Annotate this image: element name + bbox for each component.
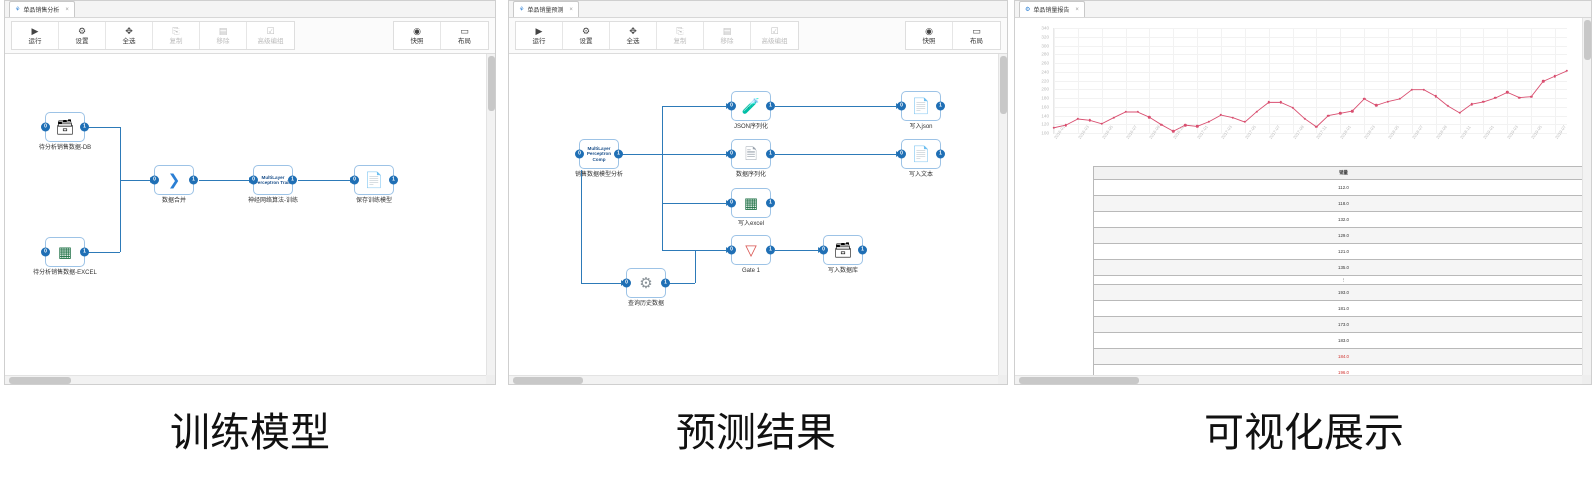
node-save-model[interactable]: 0 📄 1 保存训练模型 — [354, 165, 394, 206]
node-box[interactable]: 0 ▦ 1 — [45, 237, 85, 267]
node-write-json[interactable]: 0 📄 1 写入json — [901, 91, 941, 132]
run-button[interactable]: ▶ 运行 — [516, 22, 563, 49]
y-tick-label: 260 — [1027, 61, 1049, 66]
toolbar-spacer — [295, 21, 393, 50]
node-box[interactable]: 0 🗎 1 — [731, 139, 771, 169]
table-row[interactable]: 118.02016-02-01 — [1094, 196, 1592, 212]
series-line — [1054, 28, 1567, 133]
wire — [298, 180, 350, 181]
port-out[interactable]: 1 — [80, 123, 89, 132]
plot-area — [1053, 28, 1567, 134]
table-row[interactable]: 183.02018-12-01 — [1094, 333, 1592, 349]
excel-icon: ▦ — [58, 245, 72, 260]
port-out[interactable]: 1 — [189, 176, 198, 185]
node-box[interactable]: 0 📄 1 — [901, 139, 941, 169]
wire — [85, 252, 120, 253]
gear-icon: ⚙ — [78, 27, 86, 36]
node-inner-text: MultiLayer Perceptron Comp — [580, 146, 618, 162]
tab-predict[interactable]: ⚘ 单品销量预测 × — [513, 1, 579, 17]
wire — [662, 154, 726, 155]
visualization-body[interactable]: 100120140160180200220240260280300320340 … — [1015, 18, 1591, 384]
port-in[interactable]: 0 — [727, 150, 736, 159]
scrollbar-thumb[interactable] — [488, 56, 495, 111]
table-row[interactable]: 121.02016-05-01 — [1094, 244, 1592, 260]
copy-button[interactable]: ⎘ 复制 — [153, 22, 200, 49]
node-label: 数据序列化 — [714, 172, 788, 180]
node-label: 写入excel — [714, 221, 788, 229]
scrollbar-corner — [486, 375, 495, 384]
scrollbar-thumb[interactable] — [9, 377, 71, 384]
port-in[interactable]: 0 — [575, 150, 584, 159]
port-in[interactable]: 0 — [897, 102, 906, 111]
wire — [662, 203, 663, 250]
group-icon: ☑ — [770, 27, 778, 36]
port-out[interactable]: 1 — [858, 246, 867, 255]
node-data-merge[interactable]: 0 ❯ 1 数据合并 — [154, 165, 194, 206]
table-header-row: 销量 日期 — [1094, 167, 1592, 180]
advanced-group-button[interactable]: ☑ 高级编组 — [247, 22, 294, 49]
close-icon[interactable]: × — [65, 7, 69, 13]
table-body: 112.02016-01-01118.02016-02-01132.02016-… — [1094, 180, 1592, 385]
play-icon: ▶ — [536, 27, 543, 36]
tab-label: 单品销量预测 — [527, 5, 563, 14]
y-tick-label: 160 — [1027, 104, 1049, 109]
excel-icon: ▦ — [744, 196, 758, 211]
toolbar-predict: ▶ 运行 ⚙ 设置 ✥ 全选 ⎘ 复制 ▤ 移除 ☑ 高级编组 — [509, 18, 1007, 54]
node-db-source[interactable]: 0 🗃 1 待分析销售数据-DB — [45, 112, 85, 153]
cell-value: 184.0 — [1094, 349, 1592, 365]
wire — [120, 180, 150, 181]
port-out[interactable]: 1 — [288, 176, 297, 185]
tabbar-predict: ⚘ 单品销量预测 × — [509, 1, 1007, 18]
cell-value: 183.0 — [1094, 333, 1592, 349]
vertical-scrollbar[interactable] — [998, 54, 1007, 375]
run-button[interactable]: ▶ 运行 — [12, 22, 59, 49]
cell-value: 132.0 — [1094, 212, 1592, 228]
scrollbar-corner — [1582, 375, 1591, 384]
wire — [662, 203, 726, 204]
move-icon: ✥ — [629, 27, 637, 36]
cell-value: 135.0 — [1094, 260, 1592, 276]
y-tick-label: 280 — [1027, 52, 1049, 57]
wire — [199, 180, 249, 181]
wire — [775, 106, 896, 107]
panel-visualization: ⚙ 单品销量报告 × 10012014016018020022024026028… — [1014, 0, 1592, 385]
vertical-scrollbar[interactable] — [1582, 18, 1591, 375]
table-row[interactable]: ⋮⋮ — [1094, 276, 1592, 285]
table-head: 销量 日期 — [1094, 167, 1592, 180]
y-tick-label: 240 — [1027, 69, 1049, 74]
node-gate-1[interactable]: 0 ▽ 1 Gate 1 — [731, 235, 771, 276]
cell-value: 118.0 — [1094, 196, 1592, 212]
node-box[interactable]: 0 📄 1 — [901, 91, 941, 121]
node-label: Gate 1 — [714, 268, 788, 276]
column-header-value: 销量 — [1094, 167, 1592, 180]
gear-db-icon: ⚙ — [639, 276, 652, 291]
copy-button[interactable]: ⎘ 复制 — [657, 22, 704, 49]
merge-icon: ❯ — [168, 173, 181, 188]
canvas-inner-predict: 0 MultiLayer Perceptron Comp 1 销售数据模型分析 … — [509, 54, 1007, 384]
y-tick-label: 300 — [1027, 43, 1049, 48]
toolbar-group-left: ▶ 运行 ⚙ 设置 ✥ 全选 ⎘ 复制 ▤ 移除 ☑ 高级编组 — [515, 21, 799, 50]
layout-button[interactable]: ▭ 布局 — [953, 22, 1000, 49]
toolbar-group-right: ◉ 快照 ▭ 布局 — [905, 21, 1001, 50]
wire — [669, 283, 695, 284]
gate-icon: ▽ — [745, 243, 757, 258]
node-write-excel[interactable]: 0 ▦ 1 写入excel — [731, 188, 771, 229]
node-write-database[interactable]: 0 🗃 1 写入数据库 — [823, 235, 863, 276]
data-table: 销量 日期 112.02016-01-01118.02016-02-01132.… — [1093, 166, 1591, 384]
tab-label: 单品销量报告 — [1033, 5, 1069, 14]
wire — [775, 154, 896, 155]
node-box[interactable]: 0 MultiLayer Perceptron Comp 1 — [579, 139, 619, 169]
node-box[interactable]: 0 ▦ 1 — [731, 188, 771, 218]
node-label: JSON序列化 — [714, 124, 788, 132]
caption-predict-result: 预测结果 — [506, 400, 1006, 458]
port-in[interactable]: 0 — [249, 176, 258, 185]
wire — [662, 106, 663, 204]
camera-icon: ◉ — [925, 27, 933, 36]
wire — [619, 154, 662, 155]
toolbar-group-right: ◉ 快照 ▭ 布局 — [393, 21, 489, 50]
wire — [695, 250, 696, 283]
node-box[interactable]: 0 MultiLayer Perceptron Train 1 — [253, 165, 293, 195]
horizontal-scrollbar[interactable] — [1015, 375, 1582, 384]
node-label: 写入json — [884, 124, 958, 132]
table-row[interactable]: 193.02018-09-01 — [1094, 285, 1592, 301]
node-box[interactable]: 0 ⚙ 1 — [626, 268, 666, 298]
tabbar-visual: ⚙ 单品销量报告 × — [1015, 1, 1591, 18]
port-out[interactable]: 1 — [936, 102, 945, 111]
node-json-serialize[interactable]: 0 🧪 1 JSON序列化 — [731, 91, 771, 132]
screenshot-root: ⚘ 单品销售分析 × ▶ 运行 ⚙ 设置 ✥ 全选 ⎘ 复制 — [0, 0, 1596, 489]
y-tick-label: 120 — [1027, 122, 1049, 127]
scrollbar-corner — [998, 375, 1007, 384]
panel-train-model: ⚘ 单品销售分析 × ▶ 运行 ⚙ 设置 ✥ 全选 ⎘ 复制 — [4, 0, 496, 385]
toolbar-spacer — [799, 21, 905, 50]
scrollbar-thumb[interactable] — [513, 377, 583, 384]
wire — [662, 250, 726, 251]
remove-button[interactable]: ▤ 移除 — [704, 22, 751, 49]
port-in[interactable]: 0 — [897, 150, 906, 159]
wire — [581, 283, 621, 284]
node-mlp-comp[interactable]: 0 MultiLayer Perceptron Comp 1 销售数据模型分析 — [579, 139, 619, 180]
wire — [85, 127, 120, 128]
node-box[interactable]: 0 🧪 1 — [731, 91, 771, 121]
port-in[interactable]: 0 — [150, 176, 159, 185]
port-out[interactable]: 1 — [766, 102, 775, 111]
node-label: 写入文本 — [884, 172, 958, 180]
data-table-wrapper[interactable]: 销量 日期 112.02016-01-01118.02016-02-01132.… — [1093, 166, 1317, 384]
select-all-button[interactable]: ✥ 全选 — [106, 22, 153, 49]
advanced-group-button[interactable]: ☑ 高级编组 — [751, 22, 798, 49]
canvas-train[interactable]: 0 🗃 1 待分析销售数据-DB 0 ▦ 1 待分析销售数据-EXCEL — [5, 54, 495, 384]
port-in[interactable]: 0 — [41, 123, 50, 132]
node-label: 保存训练模型 — [337, 198, 411, 206]
y-tick-label: 320 — [1027, 34, 1049, 39]
copy-icon: ⎘ — [676, 27, 683, 36]
table-row[interactable]: 132.02016-03-01 — [1094, 212, 1592, 228]
port-in[interactable]: 0 — [350, 176, 359, 185]
table-row[interactable]: 181.02018-10-01 — [1094, 301, 1592, 317]
layout-icon: ▭ — [972, 27, 981, 36]
database-icon: 🗃 — [55, 120, 74, 135]
node-label: 待分析销售数据-EXCEL — [28, 270, 102, 278]
horizontal-scrollbar[interactable] — [509, 375, 998, 384]
wire — [120, 127, 121, 180]
port-out[interactable]: 1 — [614, 150, 623, 159]
table-row[interactable]: 129.02016-04-01 — [1094, 228, 1592, 244]
table-row[interactable]: 173.02018-11-01 — [1094, 317, 1592, 333]
caption-train-model: 训练模型 — [0, 400, 500, 458]
port-out[interactable]: 1 — [766, 150, 775, 159]
cell-value: 181.0 — [1094, 301, 1592, 317]
snapshot-button[interactable]: ◉ 快照 — [906, 22, 953, 49]
y-tick-label: 340 — [1027, 26, 1049, 31]
port-in[interactable]: 0 — [727, 102, 736, 111]
chart-icon: ⚙ — [1025, 7, 1030, 13]
node-write-text[interactable]: 0 📄 1 写入文本 — [901, 139, 941, 180]
node-excel-source[interactable]: 0 ▦ 1 待分析销售数据-EXCEL — [45, 237, 85, 278]
y-tick-label: 220 — [1027, 78, 1049, 83]
cell-value: ⋮ — [1094, 276, 1592, 285]
remove-button[interactable]: ▤ 移除 — [200, 22, 247, 49]
port-in[interactable]: 0 — [622, 279, 631, 288]
flask-icon: 🧪 — [742, 99, 761, 114]
snapshot-button[interactable]: ◉ 快照 — [394, 22, 441, 49]
sales-line-chart: 100120140160180200220240260280300320340 … — [1027, 24, 1573, 164]
port-out[interactable]: 1 — [661, 279, 670, 288]
y-tick-label: 200 — [1027, 87, 1049, 92]
canvas-inner-train: 0 🗃 1 待分析销售数据-DB 0 ▦ 1 待分析销售数据-EXCEL — [5, 54, 495, 384]
port-out[interactable]: 1 — [766, 199, 775, 208]
file-transform-icon: 🗎 — [745, 147, 757, 162]
table-row[interactable]: 184.02019-01-01 — [1094, 349, 1592, 365]
port-in[interactable]: 0 — [727, 199, 736, 208]
y-tick-label: 100 — [1027, 131, 1049, 136]
wire — [120, 180, 121, 252]
wire — [581, 170, 582, 283]
node-query-history[interactable]: 0 ⚙ 1 查询历史数据 — [626, 268, 666, 309]
cell-value: 121.0 — [1094, 244, 1592, 260]
panel-predict-result: ⚘ 单品销量预测 × ▶ 运行 ⚙ 设置 ✥ 全选 ⎘ 复制 — [508, 0, 1008, 385]
port-out[interactable]: 1 — [80, 248, 89, 257]
wire — [775, 250, 818, 251]
horizontal-scrollbar[interactable] — [5, 375, 486, 384]
close-icon[interactable]: × — [569, 7, 573, 13]
canvas-predict[interactable]: 0 MultiLayer Perceptron Comp 1 销售数据模型分析 … — [509, 54, 1007, 384]
y-tick-label: 180 — [1027, 96, 1049, 101]
layout-icon: ▭ — [460, 27, 469, 36]
node-box[interactable]: 0 ❯ 1 — [154, 165, 194, 195]
document-icon: 📄 — [365, 173, 384, 188]
layout-button[interactable]: ▭ 布局 — [441, 22, 488, 49]
scrollbar-thumb[interactable] — [1000, 56, 1007, 114]
move-icon: ✥ — [125, 27, 133, 36]
port-out[interactable]: 1 — [936, 150, 945, 159]
port-out[interactable]: 1 — [389, 176, 398, 185]
node-mlp-train[interactable]: 0 MultiLayer Perceptron Train 1 神经网络算法-训… — [253, 165, 293, 206]
copy-icon: ⎘ — [172, 27, 179, 36]
node-label: 写入数据库 — [806, 268, 880, 276]
group-icon: ☑ — [266, 27, 274, 36]
node-label: 数据合并 — [137, 198, 211, 206]
cell-value: 112.0 — [1094, 180, 1592, 196]
node-label: 待分析销售数据-DB — [28, 145, 102, 153]
table-row[interactable]: 112.02016-01-01 — [1094, 180, 1592, 196]
database-icon: 🗃 — [833, 243, 852, 258]
node-data-serialize[interactable]: 0 🗎 1 数据序列化 — [731, 139, 771, 180]
caption-visualization: 可视化展示 — [1012, 400, 1596, 458]
port-in[interactable]: 0 — [819, 246, 828, 255]
close-icon[interactable]: × — [1075, 7, 1079, 13]
document-icon: 📄 — [912, 99, 931, 114]
vertical-scrollbar[interactable] — [486, 54, 495, 375]
document-icon: 📄 — [912, 147, 931, 162]
cell-value: 173.0 — [1094, 317, 1592, 333]
gear-icon: ⚙ — [582, 27, 590, 36]
node-label: 神经网络算法-训练 — [236, 198, 310, 206]
tab-visual[interactable]: ⚙ 单品销量报告 × — [1019, 1, 1085, 17]
share-icon: ⚘ — [519, 7, 524, 13]
toolbar-train: ▶ 运行 ⚙ 设置 ✥ 全选 ⎘ 复制 ▤ 移除 ☑ 高级编组 — [5, 18, 495, 54]
node-box[interactable]: 0 ▽ 1 — [731, 235, 771, 265]
share-icon: ⚘ — [15, 7, 20, 13]
scrollbar-thumb[interactable] — [1584, 20, 1591, 60]
port-out[interactable]: 1 — [766, 246, 775, 255]
tabbar-train: ⚘ 单品销售分析 × — [5, 1, 495, 18]
cell-value: 193.0 — [1094, 285, 1592, 301]
settings-button[interactable]: ⚙ 设置 — [59, 22, 106, 49]
trash-icon: ▤ — [723, 27, 732, 36]
camera-icon: ◉ — [413, 27, 421, 36]
scrollbar-thumb[interactable] — [1019, 377, 1139, 384]
settings-button[interactable]: ⚙ 设置 — [563, 22, 610, 49]
tab-train[interactable]: ⚘ 单品销售分析 × — [9, 1, 75, 17]
port-in[interactable]: 0 — [727, 246, 736, 255]
node-box[interactable]: 0 📄 1 — [354, 165, 394, 195]
trash-icon: ▤ — [219, 27, 228, 36]
node-label: 销售数据模型分析 — [562, 172, 636, 180]
y-tick-label: 140 — [1027, 113, 1049, 118]
select-all-button[interactable]: ✥ 全选 — [610, 22, 657, 49]
table-row[interactable]: 135.02016-06-01 — [1094, 260, 1592, 276]
node-inner-text: MultiLayer Perceptron Train — [254, 175, 292, 186]
play-icon: ▶ — [32, 27, 39, 36]
port-in[interactable]: 0 — [41, 248, 50, 257]
node-box[interactable]: 0 🗃 1 — [45, 112, 85, 142]
node-box[interactable]: 0 🗃 1 — [823, 235, 863, 265]
node-label: 查询历史数据 — [609, 301, 683, 309]
toolbar-group-left: ▶ 运行 ⚙ 设置 ✥ 全选 ⎘ 复制 ▤ 移除 ☑ 高级编组 — [11, 21, 295, 50]
wire — [662, 106, 726, 107]
cell-value: 129.0 — [1094, 228, 1592, 244]
tab-label: 单品销售分析 — [23, 5, 59, 14]
